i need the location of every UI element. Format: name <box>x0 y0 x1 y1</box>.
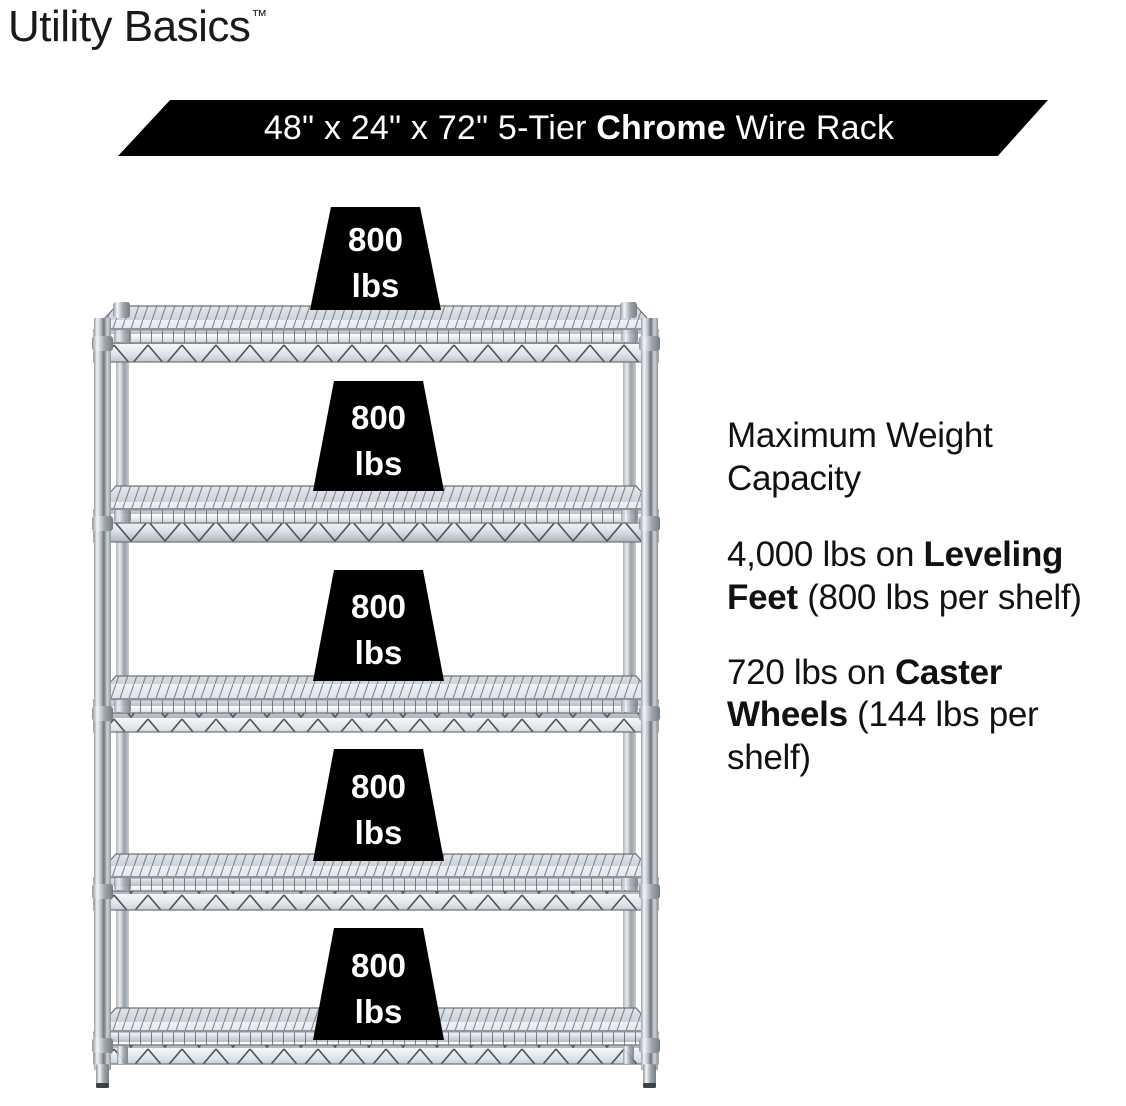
weight-badge-tier-4: 800 lbs <box>313 749 444 861</box>
badge-number: 800 <box>351 949 406 982</box>
weight-badge-tier-3: 800 lbs <box>313 570 444 681</box>
infographic-page: Utility Basics™ 48" x 24" x 72" 5-Tier C… <box>0 0 1126 1106</box>
badge-text: 800 lbs <box>313 928 444 1040</box>
badge-unit: lbs <box>355 447 403 480</box>
leveling-feet-capacity: 4,000 lbs on Leveling Feet (800 lbs per … <box>727 534 1099 619</box>
badge-text: 800 lbs <box>313 749 444 861</box>
banner-suffix: Wire Rack <box>726 109 894 147</box>
leveling-detail: (800 lbs per shelf) <box>798 578 1082 617</box>
banner-highlight: Chrome <box>596 109 726 147</box>
shelf-tier-2 <box>94 486 658 542</box>
badge-unit: lbs <box>355 995 403 1028</box>
badge-text: 800 lbs <box>313 570 444 681</box>
weight-badge-tier-5: 800 lbs <box>313 928 444 1040</box>
shelf-tier-1 <box>94 306 658 362</box>
capacity-copy-block: Maximum Weight Capacity 4,000 lbs on Lev… <box>727 415 1099 812</box>
shelf-tier-3 <box>94 676 658 732</box>
badge-number: 800 <box>351 590 406 623</box>
weight-badge-tier-1: 800 lbs <box>310 207 441 310</box>
capacity-heading: Maximum Weight Capacity <box>727 415 1099 500</box>
banner-prefix: 48" x 24" x 72" 5-Tier <box>264 109 596 147</box>
badge-text: 800 lbs <box>313 381 444 491</box>
weight-badge-tier-2: 800 lbs <box>313 381 444 491</box>
caster-total: 720 lbs on <box>727 653 895 692</box>
trademark-symbol: ™ <box>251 8 267 25</box>
brand-name: Utility Basics <box>8 2 250 51</box>
shelf-tier-4 <box>94 854 658 910</box>
badge-unit: lbs <box>355 636 403 669</box>
badge-text: 800 lbs <box>310 207 441 310</box>
badge-number: 800 <box>351 401 406 434</box>
brand-title: Utility Basics™ <box>8 4 267 50</box>
badge-number: 800 <box>348 223 403 256</box>
badge-unit: lbs <box>352 269 400 302</box>
caster-wheels-capacity: 720 lbs on Caster Wheels (144 lbs per sh… <box>727 652 1099 780</box>
product-banner-text: 48" x 24" x 72" 5-Tier Chrome Wire Rack <box>264 109 894 148</box>
product-banner: 48" x 24" x 72" 5-Tier Chrome Wire Rack <box>118 100 1048 156</box>
badge-unit: lbs <box>355 816 403 849</box>
badge-number: 800 <box>351 770 406 803</box>
leveling-total: 4,000 lbs on <box>727 535 924 574</box>
